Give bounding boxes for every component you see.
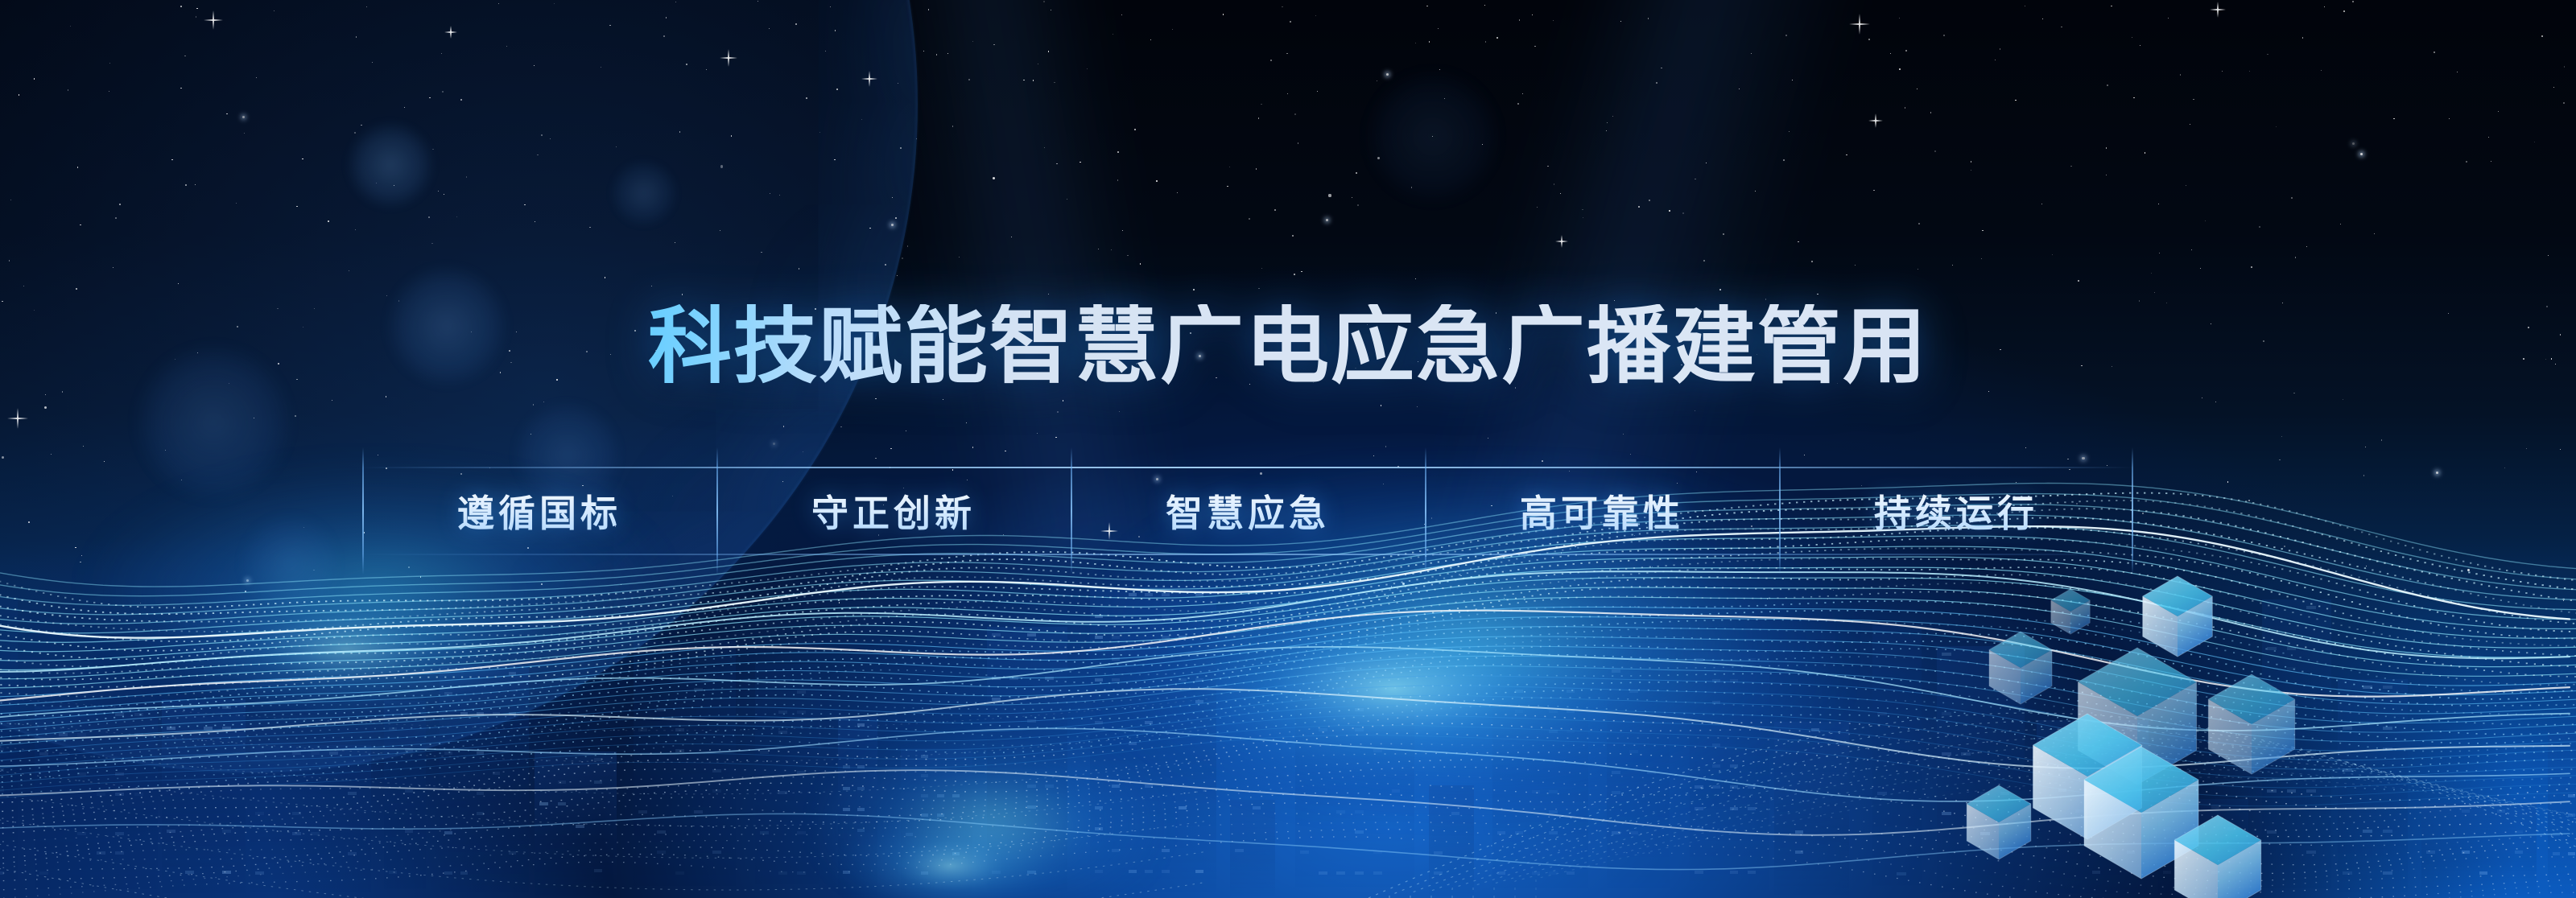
subtitle-item-3: 高可靠性 bbox=[1425, 467, 1779, 555]
subtitle-item-4: 持续运行 bbox=[1779, 467, 2133, 555]
subtitle-item-2: 智慧应急 bbox=[1071, 467, 1425, 555]
banner-content: 科技赋能智慧广电应急广播建管用 遵循国标 守正创新 智慧应急 高可靠性 持续运行 bbox=[0, 0, 2576, 898]
subtitle-divider-3 bbox=[1425, 447, 1426, 575]
subtitle-divider-5 bbox=[2132, 447, 2133, 575]
subtitle-divider-1 bbox=[716, 447, 718, 575]
subtitle-item-1: 守正创新 bbox=[716, 467, 1071, 555]
subtitle-items: 遵循国标 守正创新 智慧应急 高可靠性 持续运行 bbox=[362, 467, 2133, 555]
promo-banner: 科技赋能智慧广电应急广播建管用 遵循国标 守正创新 智慧应急 高可靠性 持续运行 bbox=[0, 0, 2576, 898]
subtitle-divider-0 bbox=[362, 447, 364, 575]
subtitle-divider-4 bbox=[1779, 447, 1781, 575]
banner-title: 科技赋能智慧广电应急广播建管用 bbox=[0, 304, 2576, 388]
subtitle-divider-2 bbox=[1071, 447, 1072, 575]
subtitle-bar: 遵循国标 守正创新 智慧应急 高可靠性 持续运行 bbox=[362, 467, 2133, 555]
subtitle-item-0: 遵循国标 bbox=[362, 467, 716, 555]
